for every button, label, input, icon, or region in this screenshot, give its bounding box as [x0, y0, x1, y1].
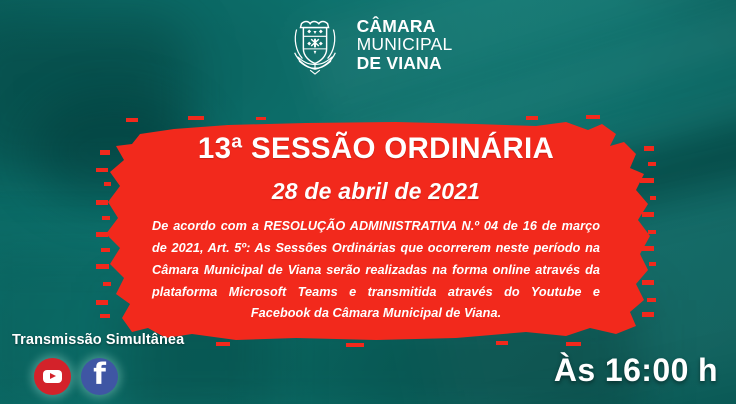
announcement-card: CÂMARA MUNICIPAL DE VIANA: [0, 0, 736, 404]
brand-logo: CÂMARA MUNICIPAL DE VIANA: [0, 14, 736, 76]
youtube-icon[interactable]: [34, 358, 71, 395]
red-banner: 13ª SESSÃO ORDINÁRIA 28 de abril de 2021…: [96, 112, 656, 348]
session-description: De acordo com a RESOLUÇÃO ADMINISTRATIVA…: [152, 216, 600, 325]
facebook-icon[interactable]: f: [81, 358, 118, 395]
coat-of-arms-shield-icon: [284, 14, 346, 76]
session-title: 13ª SESSÃO ORDINÁRIA: [96, 132, 656, 166]
brand-line-1: CÂMARA: [357, 18, 453, 36]
youtube-play-glyph: [43, 370, 62, 384]
facebook-f-glyph: f: [93, 360, 106, 389]
session-date: 28 de abril de 2021: [96, 178, 656, 205]
brand-line-3: DE VIANA: [357, 55, 453, 73]
social-links: f: [34, 358, 118, 395]
broadcast-label: Transmissão Simultânea: [12, 332, 184, 348]
brand-wordmark: CÂMARA MUNICIPAL DE VIANA: [357, 18, 453, 73]
session-time: Às 16:00 h: [554, 352, 718, 389]
brand-line-2: MUNICIPAL: [357, 36, 453, 54]
